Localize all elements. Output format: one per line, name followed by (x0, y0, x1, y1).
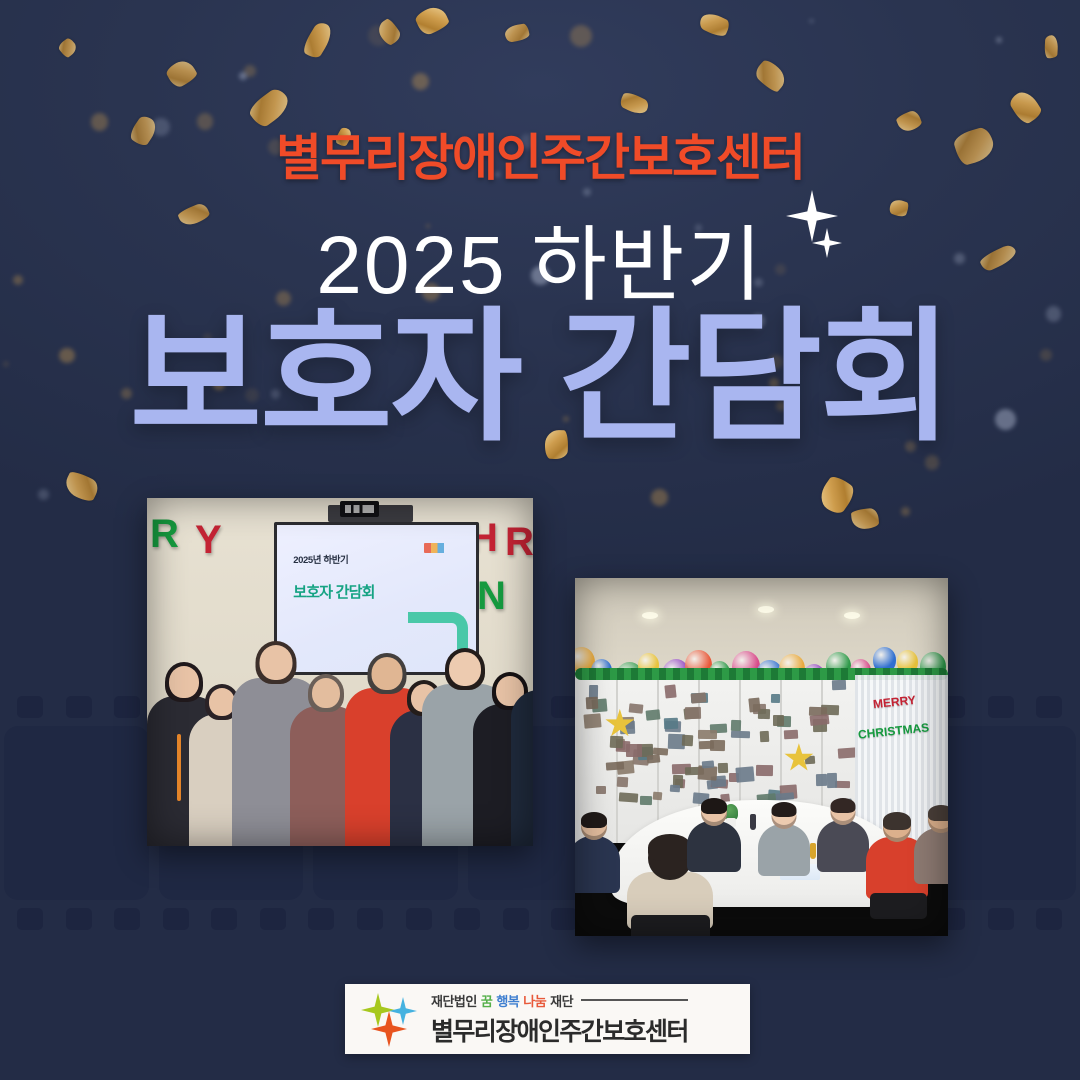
filmstrip-sprocket-hole (1036, 696, 1062, 718)
filmstrip-sprocket-hole (988, 908, 1014, 930)
wall-photo (619, 792, 638, 802)
bokeh-dot (244, 65, 256, 77)
seated-person-torso (914, 828, 948, 883)
foundation-word-haengbok: 행복 (496, 991, 519, 1010)
seated-person (758, 804, 810, 876)
wall-photo (773, 715, 784, 726)
wall-photo (628, 703, 642, 713)
person-head (449, 652, 481, 686)
filmstrip-sprocket-hole (988, 696, 1014, 718)
ceiling-light-3 (844, 612, 860, 619)
logo-text-block: 재단법인 꿈행복나눔재단 별무리장애인주간보호센터 (431, 991, 688, 1048)
seated-person-hair (701, 798, 727, 814)
person-head (260, 645, 293, 680)
filmstrip-sprocket-hole (17, 908, 43, 930)
ceiling-light-1 (642, 612, 658, 619)
wall-photo (596, 786, 606, 794)
drink-bottle-1 (810, 843, 816, 859)
seated-person-torso (575, 836, 620, 893)
confetti-ribbon (697, 10, 732, 39)
seated-person-hair (771, 802, 796, 818)
bokeh-dot (651, 489, 668, 506)
confetti-ribbon (62, 469, 102, 504)
chair-back (631, 915, 710, 936)
wall-photo (583, 714, 601, 729)
wall-photo (609, 736, 623, 749)
wall-photo (646, 755, 659, 764)
filmstrip-sprocket-hole (551, 908, 577, 930)
seated-person-hair (883, 812, 911, 829)
wall-photo (756, 764, 773, 775)
seated-person (817, 800, 869, 872)
screen-title: 보호자 간담회 (293, 581, 374, 602)
screen-logo-icon (424, 543, 464, 553)
confetti-ribbon (752, 57, 790, 94)
organization-name: 별무리장애인주간보호센터 (0, 118, 1080, 190)
wall-photo (710, 740, 725, 752)
foundation-line: 재단법인 꿈행복나눔재단 (431, 991, 688, 1010)
staff-lanyard (177, 734, 181, 802)
person-head (312, 678, 340, 708)
confetti-ribbon (375, 17, 404, 47)
photo-meeting-table: MERRY CHRISTMAS (575, 578, 948, 936)
page-title: 보호자 간담회 (0, 302, 1080, 453)
filmstrip-sprocket-hole (66, 908, 92, 930)
seated-person-hair (648, 834, 692, 861)
seated-person-hair (831, 798, 856, 814)
filmstrip-sprocket-hole (163, 908, 189, 930)
filmstrip-frame (4, 726, 149, 900)
ceiling-light-2 (758, 606, 774, 613)
wall-photo (735, 766, 754, 782)
filmstrip-sprocket-hole (1036, 908, 1062, 930)
confetti-ribbon (504, 23, 530, 43)
foundation-prefix: 재단법인 (431, 991, 477, 1010)
star-blue-icon (389, 997, 417, 1025)
balloon-letter-Y: Y (195, 520, 222, 560)
chair-back (870, 893, 927, 919)
bokeh-dot (996, 37, 1002, 43)
wall-photo (586, 696, 599, 709)
filmstrip-sprocket-hole (17, 696, 43, 718)
confetti-ribbon (815, 473, 859, 517)
seated-person-torso (817, 820, 869, 872)
seated-person-torso (687, 821, 741, 872)
wall-photo (697, 730, 716, 740)
bokeh-dot (570, 25, 592, 47)
confetti-ribbon (618, 90, 651, 118)
filmstrip-sprocket-hole (357, 908, 383, 930)
wall-photo (718, 763, 728, 773)
filmstrip-sprocket-hole (66, 696, 92, 718)
wall-photo (827, 773, 837, 788)
confetti-ribbon (57, 37, 79, 59)
bokeh-dot (809, 19, 813, 23)
person-figure (519, 653, 533, 846)
filmstrip-sprocket-hole (454, 908, 480, 930)
wall-photo (670, 785, 681, 793)
wall-photo (831, 680, 846, 691)
wall-photo (653, 792, 663, 801)
confetti-ribbon (1044, 35, 1058, 58)
wall-photo (653, 748, 668, 756)
filmstrip-sprocket-hole (211, 908, 237, 930)
filmstrip-sprocket-hole (503, 908, 529, 930)
foundation-suffix: 재단 (550, 991, 573, 1010)
bokeh-dot (901, 507, 910, 516)
wall-photo (784, 729, 798, 739)
center-name: 별무리장애인주간보호센터 (431, 1012, 688, 1048)
seated-person-hair (581, 812, 607, 828)
seated-person-hair (928, 805, 948, 821)
digital-clock (340, 501, 379, 517)
balloon-letter-N: N (477, 576, 506, 616)
balloon-letter-R1: R (150, 514, 179, 554)
wall-photo (664, 718, 678, 729)
bokeh-dot (239, 72, 247, 80)
confetti-ribbon (164, 57, 199, 91)
filmstrip-frame (931, 726, 1076, 900)
bokeh-dot (38, 489, 49, 500)
foundation-word-kkum: 꿈 (481, 991, 492, 1010)
logo-divider-rule (581, 999, 688, 1001)
confetti-ribbon (851, 507, 880, 530)
filmstrip-sprocket-hole (114, 908, 140, 930)
footer-logo: 재단법인 꿈행복나눔재단 별무리장애인주간보호센터 (345, 984, 750, 1054)
foundation-word-nanum: 나눔 (523, 991, 546, 1010)
photo-group-picture: R Y C H R N 2025년 하반기 보호자 간담회 (147, 498, 533, 846)
drink-bottle-3 (750, 814, 756, 830)
poster-canvas: 별무리장애인주간보호센터 2025 하반기 보호자 간담회 R Y C H R … (0, 0, 1080, 1080)
logo-mark (359, 991, 421, 1047)
wall-photo (759, 731, 769, 743)
bokeh-dot (412, 73, 429, 90)
wall-photo (664, 684, 676, 698)
filmstrip-sprocket-hole (308, 908, 334, 930)
person-torso (511, 690, 533, 846)
wall-photo (691, 692, 707, 703)
seated-person (575, 814, 620, 892)
bokeh-dot (368, 25, 389, 46)
wall-photo (748, 698, 760, 713)
wall-photo (702, 760, 714, 768)
wall-photo (731, 730, 750, 738)
seated-person (687, 800, 741, 872)
screen-subtitle: 2025년 하반기 (293, 552, 348, 566)
wall-photo (606, 761, 624, 770)
wall-photo (682, 734, 694, 746)
filmstrip-sprocket-hole (260, 908, 286, 930)
confetti-ribbon (300, 19, 336, 60)
wall-photo (640, 796, 652, 805)
balloon-letter-R2: R (505, 522, 533, 562)
wall-photo (731, 720, 742, 731)
filmstrip-sprocket-hole (551, 696, 577, 718)
seated-person (914, 807, 948, 883)
confetti-ribbon (413, 3, 450, 37)
wall-photo (626, 744, 642, 757)
wall-photo (645, 710, 660, 722)
filmstrip-sprocket-hole (114, 696, 140, 718)
wall-photo (771, 694, 780, 704)
wall-photo (685, 706, 701, 719)
filmstrip-sprocket-hole (406, 908, 432, 930)
seated-person-torso (758, 824, 810, 876)
wall-photo (617, 777, 629, 788)
